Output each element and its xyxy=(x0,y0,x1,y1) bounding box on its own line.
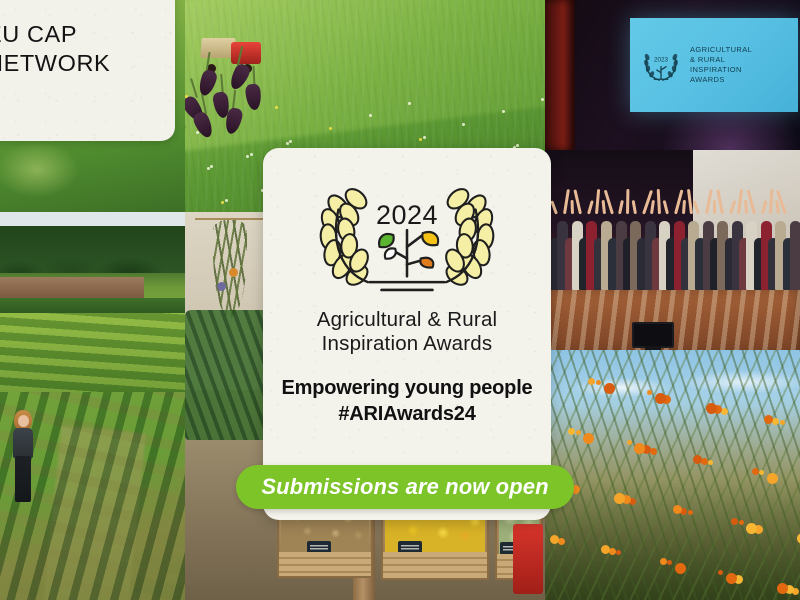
dried-flower xyxy=(229,268,238,277)
treeline xyxy=(0,226,185,273)
projection-text-block: AGRICULTURAL & RURAL INSPIRATION AWARDS xyxy=(690,45,752,86)
photo-award-ceremony-crowd xyxy=(545,150,800,350)
dried-flower xyxy=(217,282,226,291)
submissions-open-button[interactable]: Submissions are now open xyxy=(236,465,574,509)
projection-line-3: INSPIRATION xyxy=(690,65,752,75)
woman-figure xyxy=(8,410,38,502)
torso xyxy=(13,428,33,458)
leaf-white xyxy=(385,248,396,258)
award-tagline: Empowering young people xyxy=(282,376,533,401)
stage-curtain xyxy=(545,0,575,150)
foliage-texture xyxy=(545,350,800,600)
crate-slats xyxy=(383,552,487,578)
legs xyxy=(15,456,31,502)
projection-screen: 2023 AGRICULTURAL & RURAL INSPIRATION AW… xyxy=(630,18,798,112)
stage-monitor-icon xyxy=(632,322,674,348)
award-year: 2024 xyxy=(309,200,505,231)
award-title: Agricultural & Rural Inspiration Awards xyxy=(317,308,498,356)
award-title-line-2: Inspiration Awards xyxy=(317,332,498,356)
projection-line-1: AGRICULTURAL xyxy=(690,45,752,55)
crowd-of-people xyxy=(545,186,800,290)
garden-wall xyxy=(0,277,144,299)
projected-laurel-icon: 2023 xyxy=(640,44,682,86)
eu-cap-line-2: NETWORK xyxy=(0,49,110,78)
submissions-open-label: Submissions are now open xyxy=(261,474,548,500)
projection-line-4: AWARDS xyxy=(690,75,752,85)
photo-walled-kitchen-garden xyxy=(0,212,185,392)
collage-canvas: 2023 AGRICULTURAL & RURAL INSPIRATION AW… xyxy=(0,0,800,600)
projection-line-2: & RURAL xyxy=(690,55,752,65)
photo-marigold-flowers xyxy=(545,350,800,600)
photo-woman-in-vegetable-field xyxy=(0,392,185,600)
photo-auditorium-projection: 2023 AGRICULTURAL & RURAL INSPIRATION AW… xyxy=(545,0,800,150)
laurel-wreath-sapling-icon: 2024 xyxy=(309,174,505,302)
projected-year: 2023 xyxy=(654,57,669,64)
leaf-orange xyxy=(420,258,433,268)
face xyxy=(18,415,29,427)
crate-slats xyxy=(279,552,371,576)
award-hashtag: #ARIAwards24 xyxy=(338,403,475,426)
leaf-yellow xyxy=(422,232,438,245)
vegetable-beds xyxy=(0,313,185,392)
eu-cap-network-logo-card: EU CAP NETWORK xyxy=(0,0,175,141)
red-plastic-crate xyxy=(513,524,543,594)
eu-cap-line-1: EU CAP xyxy=(0,20,110,49)
leaf-green xyxy=(379,234,394,247)
award-title-line-1: Agricultural & Rural xyxy=(317,308,498,332)
eu-cap-network-wordmark: EU CAP NETWORK xyxy=(0,20,110,77)
